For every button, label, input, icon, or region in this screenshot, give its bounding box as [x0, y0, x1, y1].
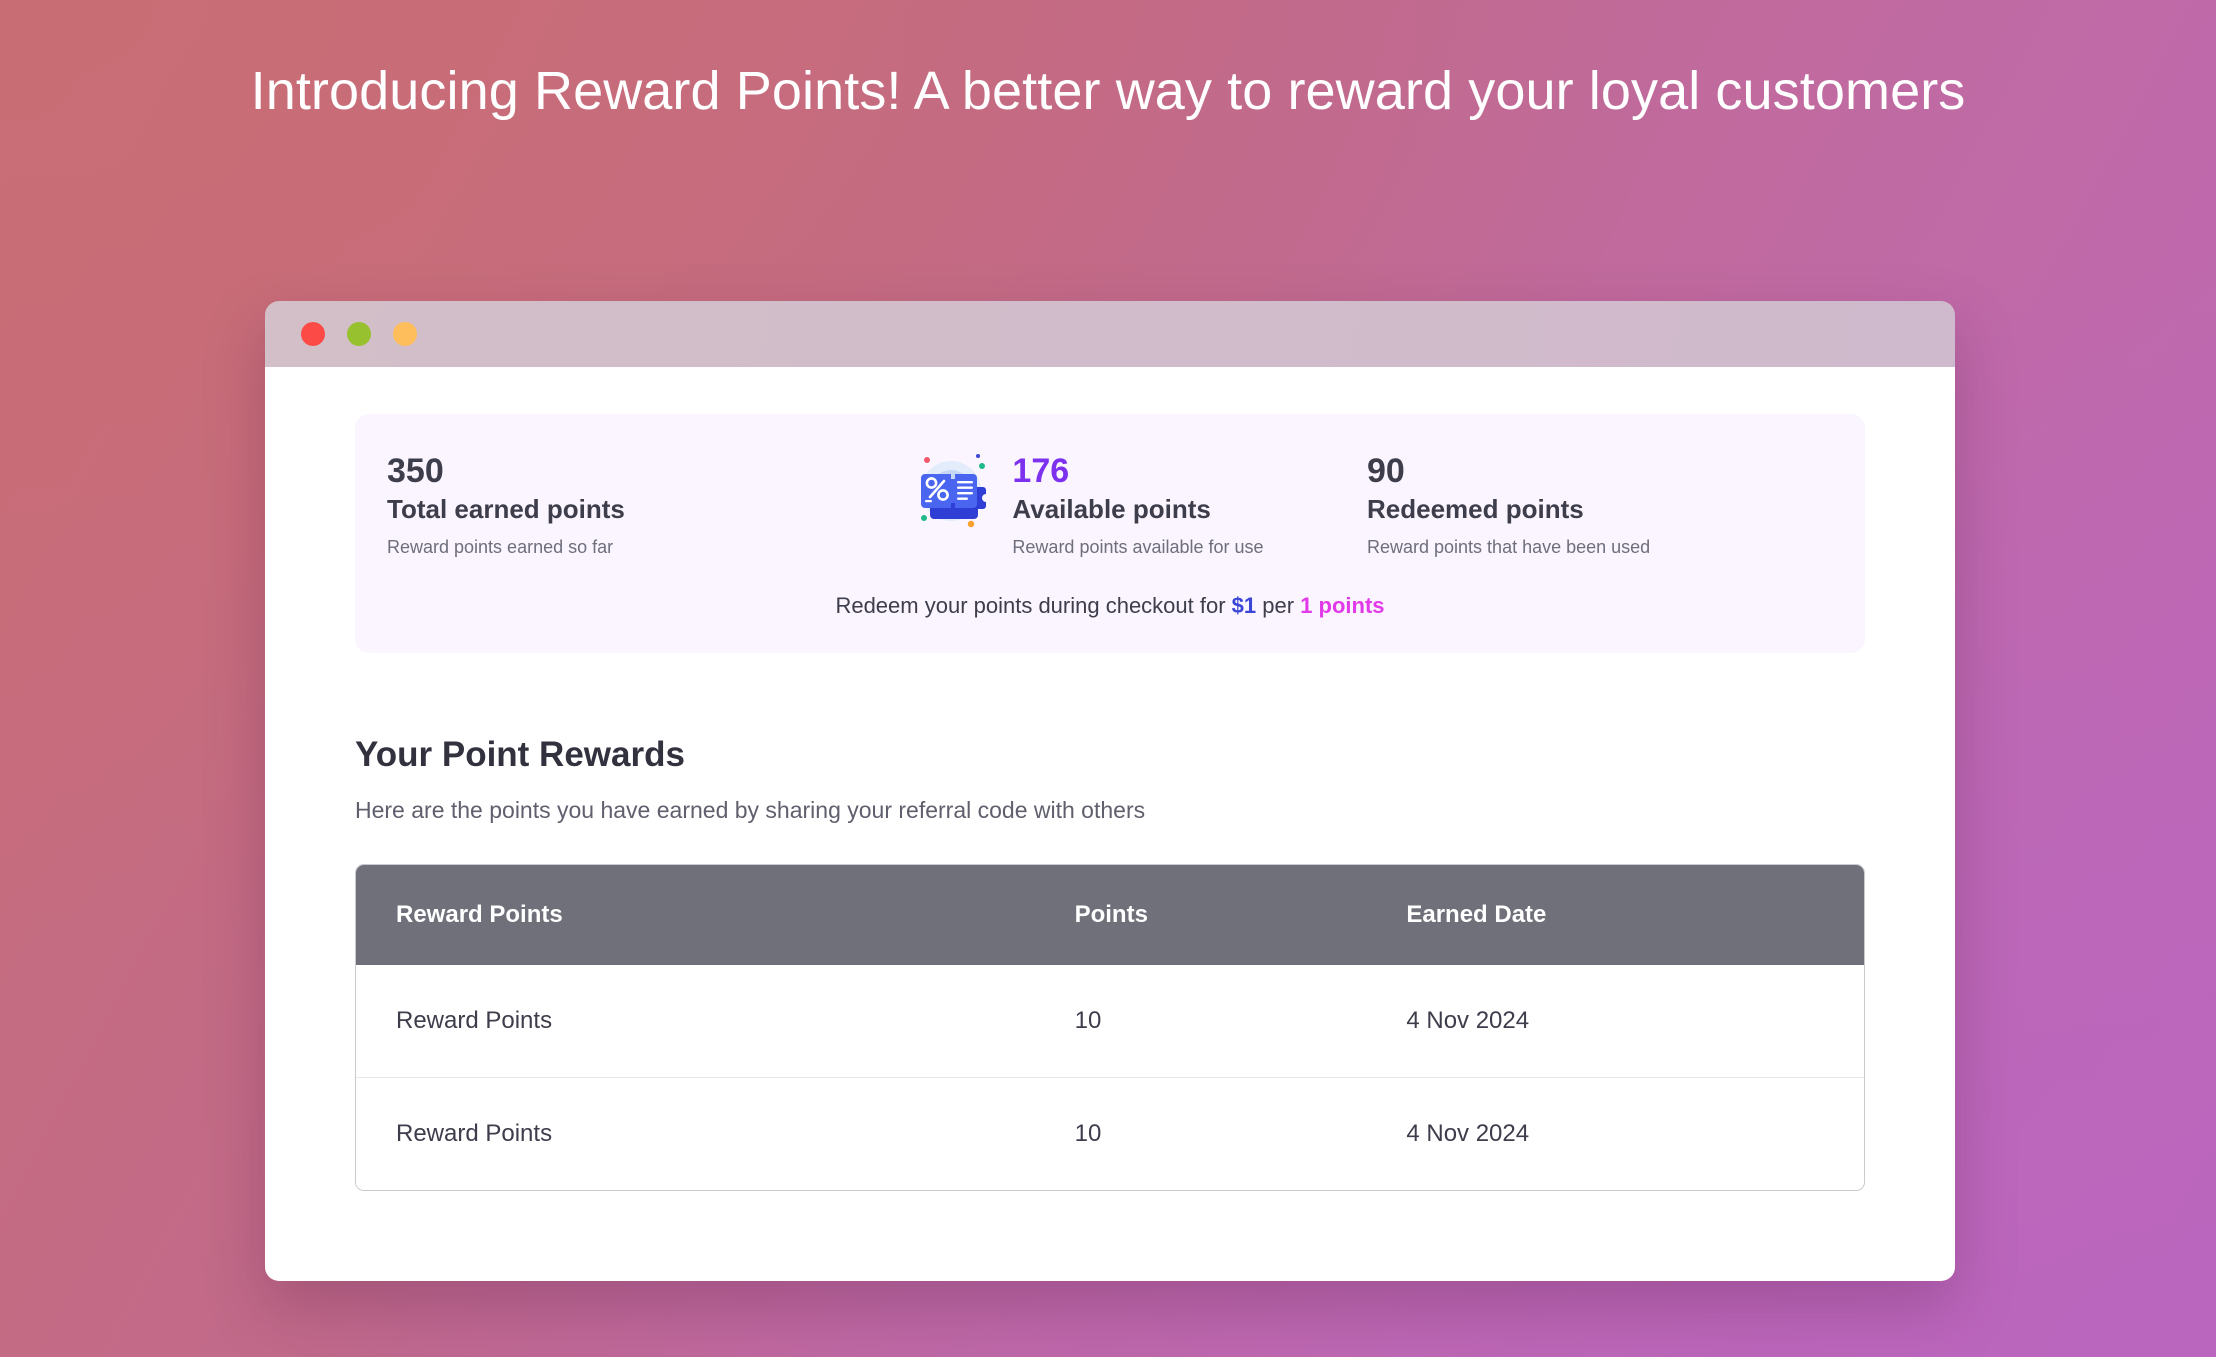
- rewards-table-body: Reward Points 10 4 Nov 2024 Reward Point…: [356, 965, 1864, 1190]
- maximize-window-dot[interactable]: [393, 322, 417, 346]
- cell-earned-date: 4 Nov 2024: [1366, 1078, 1864, 1190]
- cell-earned-date: 4 Nov 2024: [1366, 965, 1864, 1078]
- table-row: Reward Points 10 4 Nov 2024: [356, 965, 1864, 1078]
- redeem-middle-text: per: [1256, 593, 1300, 618]
- points-summary-card: 350 Total earned points Reward points ea…: [355, 414, 1865, 653]
- cell-reward-name: Reward Points: [356, 1078, 1035, 1190]
- stat-total-earned-points: 350 Total earned points Reward points ea…: [387, 452, 853, 559]
- cell-reward-points: 10: [1035, 965, 1367, 1078]
- cell-reward-name: Reward Points: [356, 965, 1035, 1078]
- total-earned-points-value: 350: [387, 452, 625, 490]
- browser-viewport: 350 Total earned points Reward points ea…: [265, 367, 1955, 1281]
- hero-section: Introducing Reward Points! A better way …: [0, 0, 2216, 123]
- rewards-table-header-row: Reward Points Points Earned Date: [356, 865, 1864, 965]
- stat-available-points: 176 Available points Reward points avail…: [853, 452, 1319, 559]
- redeemed-points-label: Redeemed points: [1367, 493, 1650, 527]
- minimize-window-dot[interactable]: [347, 322, 371, 346]
- column-header-earned-date[interactable]: Earned Date: [1366, 865, 1864, 965]
- total-earned-points-desc: Reward points earned so far: [387, 536, 625, 559]
- page-title: Introducing Reward Points! A better way …: [228, 60, 1988, 123]
- points-summary-row: 350 Total earned points Reward points ea…: [387, 452, 1833, 559]
- browser-window-mockup: 350 Total earned points Reward points ea…: [265, 301, 1955, 1281]
- redeem-instruction: Redeem your points during checkout for $…: [387, 593, 1833, 619]
- redeem-points-value: 1 points: [1300, 593, 1384, 618]
- table-row: Reward Points 10 4 Nov 2024: [356, 1078, 1864, 1190]
- stat-redeemed-points: 90 Redeemed points Reward points that ha…: [1319, 452, 1833, 559]
- redeem-prefix-text: Redeem your points during checkout for: [835, 593, 1231, 618]
- redeem-money-value: $1: [1232, 593, 1256, 618]
- coupon-percent-icon: [908, 448, 994, 534]
- available-points-desc: Reward points available for use: [1012, 536, 1263, 559]
- column-header-points[interactable]: Points: [1035, 865, 1367, 965]
- available-points-value: 176: [1012, 452, 1263, 490]
- rewards-table-head: Reward Points Points Earned Date: [356, 865, 1864, 965]
- cell-reward-points: 10: [1035, 1078, 1367, 1190]
- available-points-label: Available points: [1012, 493, 1263, 527]
- redeemed-points-value: 90: [1367, 452, 1650, 490]
- rewards-table: Reward Points Points Earned Date Reward …: [355, 864, 1865, 1191]
- column-header-reward-points[interactable]: Reward Points: [356, 865, 1035, 965]
- close-window-dot[interactable]: [301, 322, 325, 346]
- browser-titlebar: [265, 301, 1955, 367]
- rewards-section-subtitle: Here are the points you have earned by s…: [355, 797, 1865, 824]
- total-earned-points-label: Total earned points: [387, 493, 625, 527]
- redeemed-points-desc: Reward points that have been used: [1367, 536, 1650, 559]
- rewards-section-title: Your Point Rewards: [355, 735, 1865, 775]
